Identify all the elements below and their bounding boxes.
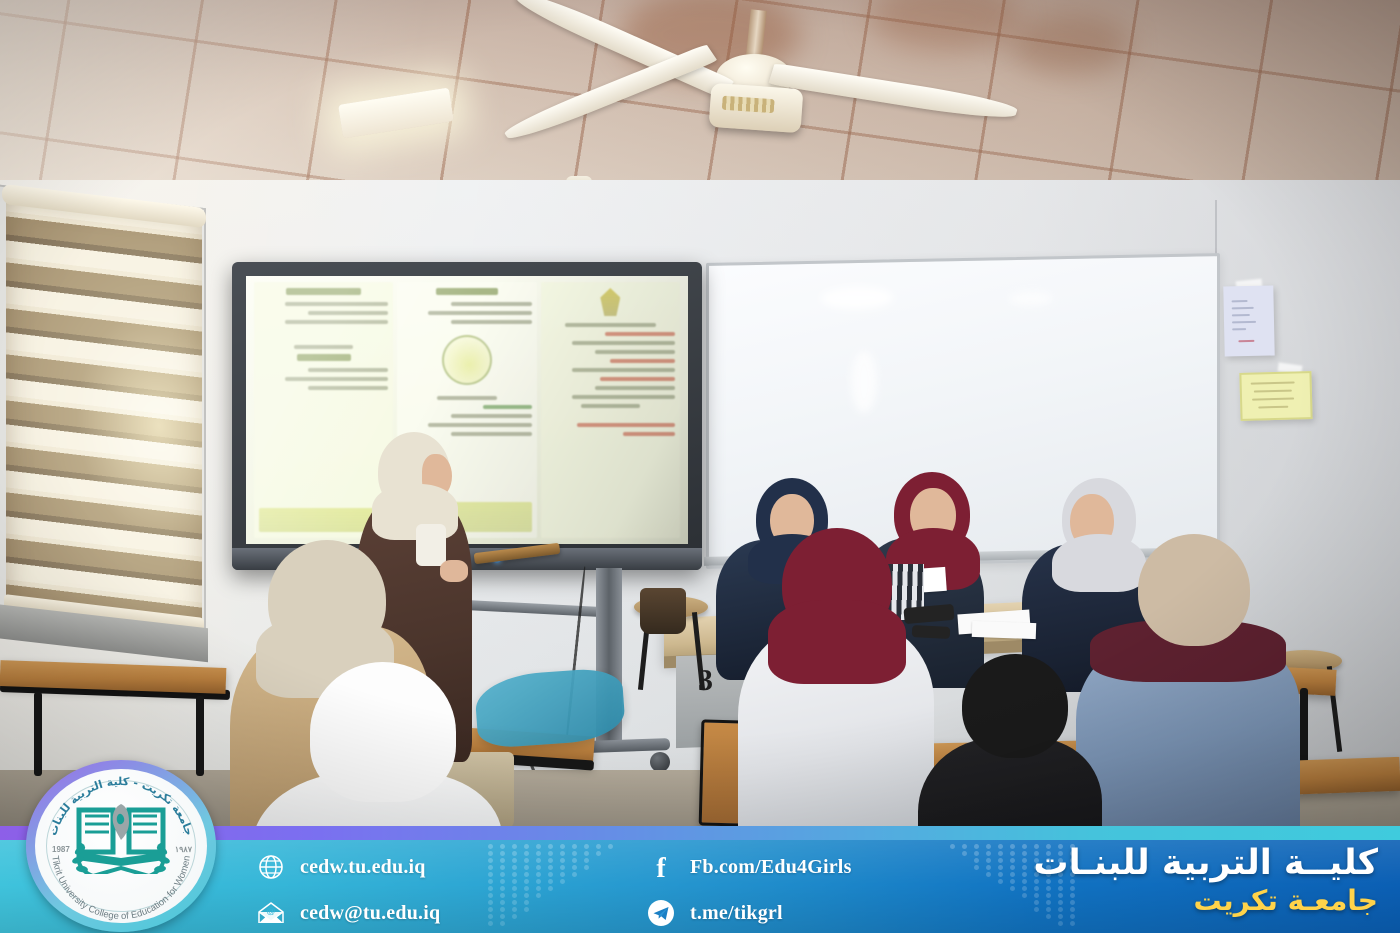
contact-website[interactable]: cedw.tu.edu.iq <box>256 852 426 882</box>
contact-telegram[interactable]: t.me/tikgrl <box>646 898 783 928</box>
display-screen[interactable] <box>246 276 688 544</box>
college-name-block: كليــة التربية للبنـات جامعـة تكريت <box>1033 845 1378 916</box>
telegram-text: t.me/tikgrl <box>690 902 783 925</box>
svg-text:f: f <box>656 853 666 881</box>
website-text: cedw.tu.edu.iq <box>300 856 426 879</box>
ceiling <box>0 0 1400 205</box>
whiteboard-glare <box>851 351 877 413</box>
ceiling-fan <box>560 10 1030 150</box>
logo-emblem <box>69 800 173 874</box>
logo-year-arabic: ١٩٨٧ <box>175 845 192 854</box>
presentation-slide <box>246 276 688 544</box>
college-name-arabic: كليــة التربية للبنـات <box>1033 845 1378 883</box>
email-text: cedw@tu.edu.iq <box>300 902 440 925</box>
fan-blade <box>768 63 1019 123</box>
contact-email[interactable]: @ cedw@tu.edu.iq <box>256 898 440 928</box>
slide-column-left <box>541 282 680 538</box>
university-name-arabic: جامعـة تكريت <box>1033 885 1378 916</box>
dot-pattern-left <box>488 840 638 933</box>
handbag <box>640 588 686 634</box>
college-logo: جامعة تكريت - كلية التربية للبنات Tikrit… <box>26 760 216 932</box>
svg-text:@: @ <box>266 906 275 916</box>
stand-caster <box>650 752 670 772</box>
slide-column-right <box>254 282 393 538</box>
whiteboard-glare <box>1009 291 1053 306</box>
fan-motor-housing <box>709 83 804 133</box>
facebook-text: Fb.com/Edu4Girls <box>690 856 852 879</box>
photo-canvas: 3 <box>0 0 1400 933</box>
blue-notice <box>1223 285 1274 356</box>
window-sunlight <box>6 194 202 627</box>
contact-facebook[interactable]: f Fb.com/Edu4Girls <box>646 852 852 882</box>
mobile-phone[interactable] <box>912 625 951 639</box>
whiteboard-glare <box>821 286 893 309</box>
facebook-icon: f <box>646 852 676 882</box>
envelope-icon: @ <box>256 898 286 928</box>
logo-year-latin: 1987 <box>52 845 70 854</box>
papers-on-table <box>972 621 1037 639</box>
yellow-notice <box>1239 371 1312 421</box>
globe-icon <box>256 852 286 882</box>
telegram-icon <box>646 898 676 928</box>
